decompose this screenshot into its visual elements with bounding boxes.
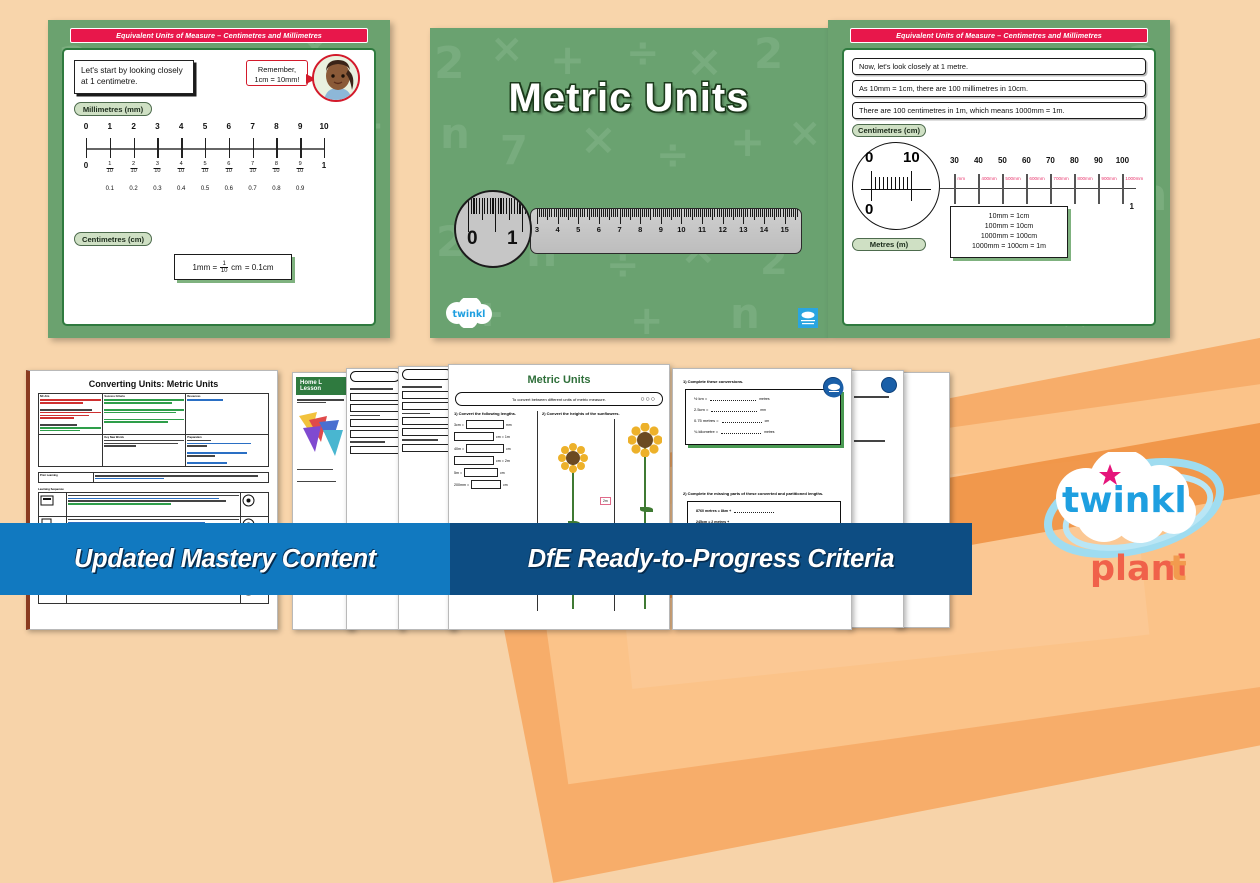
svg-text:t: t	[1170, 549, 1187, 589]
number-line-tick	[300, 138, 301, 158]
conv-row-1: 3cm =	[454, 423, 464, 427]
magnifier-circle: 0 1	[454, 190, 532, 268]
worksheet-objective: To convert between different units of me…	[455, 392, 663, 406]
number-line-mm-label: 10	[319, 122, 328, 131]
ruler-minor-tick	[634, 209, 635, 217]
ruler-major-tick	[599, 209, 600, 224]
label-millimetres: Millimetres (mm)	[74, 102, 152, 116]
magnifier-tick	[479, 198, 480, 214]
ruler-minor-tick	[762, 209, 763, 217]
metre-scale-mm-label: 800mm	[1077, 176, 1092, 181]
number-line-decimal-label: 0.4	[177, 186, 185, 192]
home-learning-q1	[293, 399, 353, 403]
ruler-minor-tick	[772, 209, 773, 217]
ruler-major-tick	[785, 209, 786, 224]
ruler-number: 15	[780, 225, 788, 234]
math-symbol-pattern-center: 2 × + ÷ × 2 n 7 × ÷ + × 2 n ÷ × 2 ÷ + n	[430, 28, 828, 338]
number-line-decimal-label: 0.1	[106, 186, 114, 192]
statement-line-2: As 10mm = 1cm, there are 100 millimetres…	[852, 80, 1146, 97]
leaf-2	[640, 507, 653, 512]
ruler-minor-tick	[628, 209, 629, 217]
number-line-decimal-label: 0.5	[201, 186, 209, 192]
slide-right-title: Equivalent Units of Measure – Centimetre…	[850, 28, 1148, 43]
number-line-fraction: 810	[273, 162, 280, 175]
ruler-minor-tick	[789, 209, 790, 217]
ruler-minor-tick	[566, 209, 567, 217]
number-line-decimal-label: 0.3	[153, 186, 161, 192]
ruler-minor-tick	[562, 209, 563, 217]
ruler-minor-tick	[574, 209, 575, 217]
conv-row-5: 5m =	[454, 471, 462, 475]
magnifier-tick	[495, 198, 496, 232]
banner-dfe-criteria: DfE Ready-to-Progress Criteria	[450, 523, 972, 595]
banner-updated-mastery: Updated Mastery Content	[0, 523, 450, 595]
equation-fraction: 1 10	[220, 261, 228, 274]
number-line-fraction: 110	[106, 162, 113, 175]
statement-line-1: Now, let's look closely at 1 metre.	[852, 58, 1146, 75]
number-line-tick	[253, 138, 254, 158]
ruler-minor-tick	[684, 209, 685, 217]
worksheet-header-2	[402, 369, 452, 380]
cell-heading-nc-aim: NC Aim	[40, 395, 101, 398]
metre-scale-tick	[1074, 174, 1075, 204]
intro-callout: Let's start by looking closely at 1 cent…	[74, 60, 194, 94]
ruler-minor-tick	[551, 209, 552, 217]
ruler-minor-tick	[739, 209, 740, 217]
svg-text:twinkl: twinkl	[1062, 480, 1187, 521]
magnifier-tick	[503, 198, 504, 214]
ruler-minor-tick	[632, 209, 633, 217]
number-line-tick	[134, 138, 135, 158]
ruler-minor-tick	[733, 209, 734, 220]
ruler-minor-tick	[760, 209, 761, 217]
svg-text:7: 7	[500, 128, 528, 174]
ruler-number: 11	[698, 225, 706, 234]
ruler-minor-tick	[797, 209, 798, 217]
number-line-tick	[229, 138, 230, 158]
home-learning-header: Home L Lesson	[296, 377, 350, 395]
ruler-number: 5	[576, 225, 580, 234]
ruler-minor-tick	[650, 209, 651, 220]
ruler-minor-tick	[679, 209, 680, 217]
number-line-mm-label: 7	[250, 122, 255, 131]
magnifier-label-10-right: 10	[903, 149, 920, 166]
ruler-minor-tick	[721, 209, 722, 217]
ruler-minor-tick	[547, 209, 548, 220]
metre-scale-cm-label: 50	[998, 156, 1007, 165]
ruler-minor-tick	[663, 209, 664, 217]
cell-heading-success: Success Criteria	[104, 395, 184, 398]
ruler-minor-tick	[607, 209, 608, 217]
ruler-minor-tick	[677, 209, 678, 217]
number-line-fraction: 710	[249, 162, 256, 175]
magnifier-tick	[514, 198, 515, 214]
magnifier-tick-right	[903, 177, 904, 190]
svg-text:×: ×	[580, 114, 617, 165]
number-line-decimal-label: 0.2	[129, 186, 137, 192]
metre-scale-mm-label: 400mm	[981, 176, 996, 181]
ruler-minor-tick	[669, 209, 670, 217]
metre-scale-mm-label: 900mm	[1101, 176, 1116, 181]
ruler-number: 9	[659, 225, 663, 234]
lesson-plan-table: NC Aim Success Criteria	[38, 393, 269, 467]
number-line-tick	[181, 138, 182, 158]
worksheet-q1-text: 1) Convert the following lengths.	[454, 411, 534, 416]
ruler-minor-tick	[719, 209, 720, 217]
ruler-minor-tick	[700, 209, 701, 217]
ruler-minor-tick	[587, 209, 588, 217]
equation-lead: 1mm =	[192, 263, 217, 272]
twinkl-circle-badge-1	[823, 377, 843, 397]
ruler-minor-tick	[603, 209, 604, 217]
sunflower-2	[628, 423, 662, 457]
cell-heading-resources: Resources	[187, 395, 267, 398]
ruler-minor-tick	[659, 209, 660, 217]
ruler-minor-tick	[706, 209, 707, 217]
ruler-minor-tick	[783, 209, 784, 217]
conv-row-3: 40m =	[454, 447, 464, 451]
worksheet-header-1	[350, 371, 400, 382]
conv-row-6: 200mm =	[454, 483, 469, 487]
ruler-minor-tick	[750, 209, 751, 217]
ruler-minor-tick	[752, 209, 753, 217]
ruler-minor-tick	[696, 209, 697, 217]
magnifier-tick	[511, 198, 512, 214]
ruler-minor-tick	[605, 209, 606, 217]
conv-row-2: cm = 1m	[496, 435, 510, 439]
ruler-major-tick	[537, 209, 538, 224]
svg-text:+: +	[730, 117, 765, 166]
twinkl-badge-icon	[798, 308, 818, 328]
ruler-minor-tick	[624, 209, 625, 217]
slide-left-content: Let's start by looking closely at 1 cent…	[62, 48, 376, 326]
metre-scale-cm-label: 90	[1094, 156, 1103, 165]
svg-text:÷: ÷	[656, 132, 690, 178]
prior-learning-label: Prior Learning	[39, 473, 94, 482]
metre-scale-tick	[1098, 174, 1099, 204]
number-line-fraction: 610	[225, 162, 232, 175]
svg-text:twinkl: twinkl	[453, 309, 486, 320]
magnifier-circle-right: 0 10 0	[852, 142, 940, 230]
conversion-1: 10mm = 1cm	[989, 212, 1030, 222]
ruler-number: 14	[760, 225, 768, 234]
magnifier-tick	[476, 198, 477, 214]
ruler-minor-tick	[729, 209, 730, 217]
magnifier-tick	[487, 198, 488, 214]
magnifier-tick	[482, 198, 483, 220]
presentation-icon	[40, 494, 54, 508]
slide-right-content: Now, let's look closely at 1 metre. As 1…	[842, 48, 1156, 326]
ruler-minor-tick	[545, 209, 546, 217]
slide-thumbnail-left[interactable]: 2 × ÷ n + 7 = Equivalent Units of Measur…	[48, 20, 390, 338]
number-line-decimal-label: 0.7	[248, 186, 256, 192]
ruler-minor-tick	[745, 209, 746, 217]
ruler-minor-tick	[787, 209, 788, 217]
magnifier-tick	[490, 198, 491, 214]
ruler-minor-tick	[539, 209, 540, 217]
number-line-mm-label: 6	[227, 122, 232, 131]
ruler-minor-tick	[737, 209, 738, 217]
statement-line-3: There are 100 centimetres in 1m, which m…	[852, 102, 1146, 119]
cell-heading-keywords: Key New Words	[104, 436, 184, 439]
metre-scale-mm-label: 1000mm	[1125, 176, 1143, 181]
ruler-minor-tick	[778, 209, 779, 217]
number-line-fraction: 210	[130, 162, 137, 175]
ruler-minor-tick	[671, 209, 672, 220]
ruler-major-tick	[578, 209, 579, 224]
ruler-minor-tick	[710, 209, 711, 217]
ruler-minor-tick	[630, 209, 631, 220]
svg-text:+: +	[630, 298, 664, 338]
ruler-minor-tick	[611, 209, 612, 217]
number-line-tick	[276, 138, 277, 158]
ruler-minor-tick	[741, 209, 742, 217]
magnifier-label-0-bottom: 0	[865, 201, 873, 218]
ruler-minor-tick	[556, 209, 557, 217]
number-line-fraction: 310	[154, 162, 161, 175]
magnifier-tick-right	[911, 171, 912, 201]
ruler-major-tick	[743, 209, 744, 224]
number-line-mm-label: 3	[155, 122, 160, 131]
ruler-minor-tick	[589, 209, 590, 220]
number-line-tick	[205, 138, 206, 158]
conversions-box: 10mm = 1cm 100mm = 10cm 1000mm = 100cm 1…	[950, 206, 1068, 258]
number-line-tick	[86, 138, 87, 158]
ruler-minor-tick	[601, 209, 602, 217]
ruler-number: 4	[556, 225, 560, 234]
equation-box: 1mm = 1 10 cm = 0.1cm	[174, 254, 292, 280]
ruler-minor-tick	[580, 209, 581, 217]
ruler-minor-tick	[543, 209, 544, 217]
ruler-minor-tick	[774, 209, 775, 220]
metre-scale-mm-label: 700mm	[1053, 176, 1068, 181]
ruler-minor-tick	[648, 209, 649, 217]
metre-scale-end-label: 1	[1130, 202, 1134, 211]
avatar	[312, 54, 360, 102]
ruler-minor-tick	[560, 209, 561, 217]
ruler-minor-tick	[613, 209, 614, 217]
home-learning-rows	[293, 469, 353, 483]
magnifier-tick-right	[871, 171, 872, 201]
metre-scale-tick	[1002, 174, 1003, 204]
svg-text:n: n	[730, 289, 760, 338]
metre-scale-tick	[1026, 174, 1027, 204]
label-centimetres-right: Centimetres (cm)	[852, 124, 926, 137]
number-line-fraction: 0	[84, 162, 88, 170]
metre-scale-axis	[940, 188, 1136, 189]
number-line-mm-label: 1	[108, 122, 113, 131]
twinkl-logo-slide: twinkl	[444, 298, 494, 333]
metre-scale-tick	[978, 174, 979, 204]
ruler-number: 12	[719, 225, 727, 234]
ruler-minor-tick	[644, 209, 645, 217]
number-line-fraction: 410	[178, 162, 185, 175]
magnifier-tick	[522, 198, 523, 232]
assessment-q1-box: ½ km = metres 2.5cm = mm 0.75 metres = c…	[685, 389, 841, 445]
prior-learning-row: Prior Learning	[38, 472, 269, 483]
ruler-minor-tick	[642, 209, 643, 217]
magnifier-label-1: 1	[507, 228, 518, 250]
ruler-minor-tick	[570, 209, 571, 217]
speech-bubble: Remember, 1cm = 10mm!	[246, 60, 308, 86]
number-line: 0011102210331044105510661077108810991010…	[74, 120, 332, 230]
magnifier-tick-right	[887, 177, 888, 190]
slide-thumbnail-center[interactable]: 2 × + ÷ × 2 n 7 × ÷ + × 2 n ÷ × 2 ÷ + n …	[430, 28, 828, 338]
ruler-minor-tick	[768, 209, 769, 217]
magnifier-tick	[500, 198, 501, 214]
svg-text:2: 2	[754, 29, 783, 78]
ruler-minor-tick	[675, 209, 676, 217]
metre-scale-cm-label: 40	[974, 156, 983, 165]
banner-left-text: Updated Mastery Content	[74, 545, 376, 574]
ruler-minor-tick	[725, 209, 726, 217]
ruler-minor-tick	[549, 209, 550, 217]
ruler-minor-tick	[582, 209, 583, 217]
logo-graphic: twinkl plani t	[1042, 452, 1242, 610]
ruler-minor-tick	[747, 209, 748, 217]
ruler-minor-tick	[673, 209, 674, 217]
sunflower-1	[558, 443, 588, 473]
worksheet-rows-2	[399, 382, 455, 458]
home-learning-line-2: Lesson	[300, 386, 346, 392]
ruler-minor-tick	[793, 209, 794, 217]
magnifier-tick-right	[875, 177, 876, 190]
equation-tail: = 0.1cm	[245, 263, 274, 272]
ruler-minor-tick	[626, 209, 627, 217]
objective-circles-icon: ○○○	[640, 396, 656, 403]
number-line-tick	[157, 138, 158, 158]
ruler-minor-tick	[714, 209, 715, 217]
slide-thumbnail-right[interactable]: × 2 ÷ n + × Equivalent Units of Measure …	[828, 20, 1170, 338]
number-line-fraction: 1	[322, 162, 326, 170]
ruler-minor-tick	[686, 209, 687, 217]
learning-sequence-label: Learning Sequence	[38, 487, 269, 491]
number-line-decimal-label: 0.8	[272, 186, 280, 192]
ruler-minor-tick	[717, 209, 718, 217]
ruler-major-tick	[640, 209, 641, 224]
magnifier-tick-right	[891, 177, 892, 190]
ruler-minor-tick	[694, 209, 695, 217]
ruler-minor-tick	[688, 209, 689, 217]
ruler-minor-tick	[735, 209, 736, 217]
metre-scale-tick	[1122, 174, 1123, 204]
metre-scale-mm-label: 600mm	[1029, 176, 1044, 181]
number-line-tick	[324, 138, 325, 158]
ruler-minor-tick	[776, 209, 777, 217]
ruler-minor-tick	[795, 209, 796, 220]
cell-heading-preparation: Preparation	[187, 436, 267, 439]
ruler-major-tick	[661, 209, 662, 224]
equation-unit: cm	[231, 263, 242, 272]
ruler-minor-tick	[756, 209, 757, 217]
ruler-minor-tick	[657, 209, 658, 217]
ruler-number: 10	[677, 225, 685, 234]
ruler-minor-tick	[646, 209, 647, 217]
ruler-major-tick	[620, 209, 621, 224]
ruler-number: 3	[535, 225, 539, 234]
promo-banner: Updated Mastery Content DfE Ready-to-Pro…	[0, 523, 972, 595]
magnifier-tick	[484, 198, 485, 214]
ruler-minor-tick	[636, 209, 637, 217]
ruler-minor-tick	[727, 209, 728, 217]
number-line-fraction: 510	[202, 162, 209, 175]
ruler-minor-tick	[638, 209, 639, 217]
worksheet-rows-1	[347, 384, 403, 460]
number-line-decimal-label: 0.6	[225, 186, 233, 192]
number-line-mm-label: 2	[131, 122, 136, 131]
magnifier-tick-right	[907, 177, 908, 190]
ruler-minor-tick	[576, 209, 577, 217]
twinkl-circle-badge-2	[881, 377, 897, 393]
magnifier-tick-right	[883, 177, 884, 190]
metre-scale-cm-label: 70	[1046, 156, 1055, 165]
magnifier-tick-right	[879, 177, 880, 190]
clock-icon	[242, 494, 255, 507]
metre-scale-tick	[1050, 174, 1051, 204]
ruler-minor-tick	[766, 209, 767, 217]
ruler-minor-tick	[617, 209, 618, 217]
ruler-minor-tick	[690, 209, 691, 217]
ruler-minor-tick	[541, 209, 542, 217]
magnifier-tick	[525, 198, 526, 214]
ruler-minor-tick	[692, 209, 693, 220]
ruler-major-tick	[681, 209, 682, 224]
ruler-number: 7	[617, 225, 621, 234]
magnifier-tick	[468, 198, 469, 232]
ruler-minor-tick	[665, 209, 666, 217]
ruler-minor-tick	[758, 209, 759, 217]
ruler-minor-tick	[615, 209, 616, 217]
ruler-minor-tick	[791, 209, 792, 217]
ruler-minor-tick	[653, 209, 654, 217]
metre-scale-mm-label: mm	[957, 176, 965, 181]
magnifier-tick	[519, 198, 520, 214]
ruler-minor-tick	[754, 209, 755, 220]
metre-scale-tick	[954, 174, 955, 204]
svg-text:×: ×	[490, 28, 524, 72]
ruler-minor-tick	[704, 209, 705, 217]
ruler-minor-tick	[584, 209, 585, 217]
ruler-major-tick	[723, 209, 724, 224]
ruler-minor-tick	[597, 209, 598, 217]
ruler-minor-tick	[622, 209, 623, 217]
worksheet-title: Metric Units	[449, 374, 669, 386]
ruler-number: 6	[597, 225, 601, 234]
bunting-illustration	[297, 408, 349, 460]
ruler-minor-tick	[780, 209, 781, 217]
ruler: 3456789101112131415	[530, 208, 802, 254]
magnifier-tick-right	[899, 177, 900, 190]
ruler-minor-tick	[667, 209, 668, 217]
metre-scale-cm-label: 60	[1022, 156, 1031, 165]
ruler-minor-tick	[731, 209, 732, 217]
ruler-minor-tick	[568, 209, 569, 220]
lesson-plan-title: Converting Units: Metric Units	[30, 379, 277, 389]
magnifier-tick	[492, 198, 493, 214]
svg-text:÷: ÷	[626, 30, 660, 76]
number-line-mm-label: 8	[274, 122, 279, 131]
worksheet-q2-text: 2) Convert the heights of the sunflowers…	[542, 411, 664, 416]
magnifier-tick	[509, 198, 510, 220]
ruler-minor-tick	[712, 209, 713, 220]
metre-scale-mm-label: 500mm	[1005, 176, 1020, 181]
number-line-mm-label: 4	[179, 122, 184, 131]
ruler-minor-tick	[609, 209, 610, 220]
twinkl-planit-logo: twinkl plani t	[1042, 452, 1242, 610]
number-line-mm-label: 9	[298, 122, 303, 131]
number-line-fraction: 910	[297, 162, 304, 175]
number-line-mm-label: 5	[203, 122, 208, 131]
